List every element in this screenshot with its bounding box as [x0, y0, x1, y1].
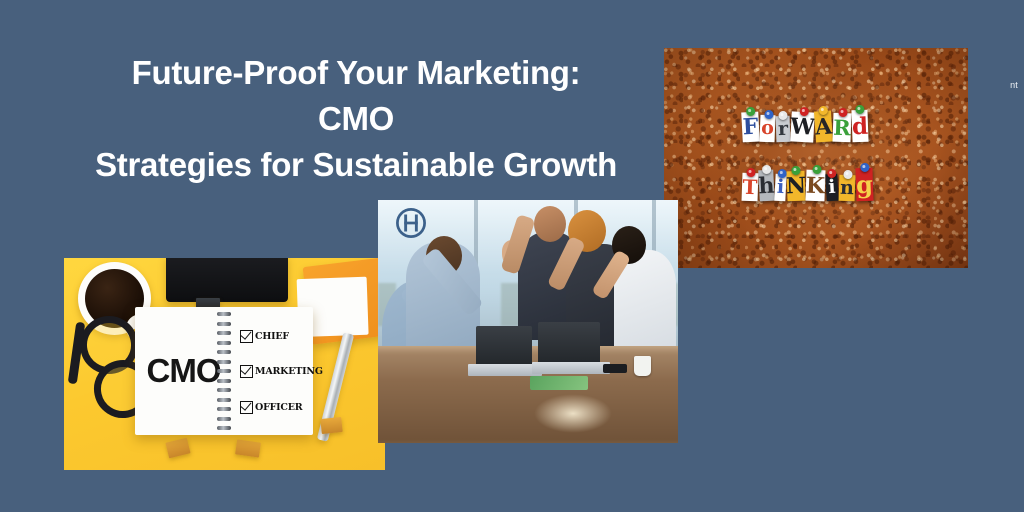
push-pin-icon [764, 110, 773, 119]
ransom-letter: N [786, 171, 805, 202]
push-pin-icon [761, 165, 770, 174]
ransom-letter-glyph: K [806, 174, 826, 197]
checklist-row: OFFICER [240, 401, 309, 414]
ransom-letter-glyph: h [758, 174, 775, 197]
laptop-screen [538, 322, 600, 364]
push-pin-icon [799, 107, 808, 116]
ransom-letter: W [790, 111, 815, 142]
checklist-label: CHIEF [255, 331, 289, 342]
spiral-coil [217, 350, 231, 354]
cmo-notebook-desk-image: CMO CHIEFMARKETINGOFFICER [64, 258, 385, 470]
ransom-letter-glyph: i [776, 178, 784, 197]
spiral-coil [217, 369, 231, 373]
ransom-letter: R [832, 113, 851, 143]
ransom-letter: T [742, 173, 759, 202]
notebook-left-page: CMO [135, 307, 224, 435]
edge-caption-text: nt [1010, 80, 1018, 90]
push-pin-icon [818, 106, 828, 116]
person-head [534, 206, 566, 242]
spiral-coil [217, 398, 231, 402]
binder-clip [320, 417, 342, 434]
spiral-coil [217, 331, 231, 335]
spiral-coil [217, 426, 231, 430]
headline-line-1: Future-Proof Your Marketing: [0, 50, 712, 96]
ransom-letter: i [825, 174, 838, 202]
laptop-keyboard [468, 364, 542, 376]
ransom-letter: d [851, 110, 868, 143]
team-high-five-image [378, 200, 678, 443]
h-monogram-logo-icon [394, 206, 428, 240]
checkbox-checked-icon [240, 401, 253, 414]
spiral-coil [217, 407, 231, 411]
spiral-coil [217, 360, 231, 364]
notebook-cmo-text: CMO [147, 352, 221, 390]
ransom-letter: K [805, 170, 825, 202]
ransom-letter-glyph: R [833, 117, 851, 139]
spiral-coil [217, 417, 231, 421]
ransom-word-thinking: ThiNKing [742, 168, 873, 201]
tablet-device [166, 258, 288, 302]
notebook-spiral-binding [217, 312, 231, 430]
checkbox-checked-icon [240, 365, 253, 378]
ransom-letter: r [776, 116, 791, 142]
ransom-letter-glyph: W [790, 115, 816, 138]
smartphone [603, 364, 627, 373]
orange-folder [303, 258, 385, 345]
document-papers [530, 376, 588, 390]
ransom-letter: A [814, 110, 833, 142]
spiral-coil [217, 379, 231, 383]
ransom-letter: h [758, 170, 775, 202]
checklist-label: MARKETING [255, 366, 323, 377]
headline-line-3: Strategies for Sustainable Growth [0, 142, 712, 188]
notebook: CMO CHIEFMARKETINGOFFICER [135, 307, 313, 435]
ransom-letter-glyph: n [840, 178, 854, 197]
ransom-letter-glyph: o [761, 119, 774, 138]
ransom-letter-glyph: g [856, 172, 874, 197]
ransom-letter: n [839, 175, 856, 202]
checklist-row: MARKETING [240, 365, 309, 378]
headline-block: Future-Proof Your Marketing: CMO Strateg… [0, 50, 712, 188]
coffee-mug [634, 356, 651, 376]
ransom-letter: g [855, 168, 873, 202]
laptop-keyboard [532, 362, 610, 374]
ransom-letter: o [760, 115, 776, 143]
spiral-coil [217, 322, 231, 326]
marketing-banner: Future-Proof Your Marketing: CMO Strateg… [0, 0, 1024, 512]
ransom-letter-glyph: F [742, 116, 759, 139]
ransom-letter-glyph: N [786, 175, 807, 198]
ransom-letter-glyph: A [814, 115, 833, 138]
spiral-coil [217, 341, 231, 345]
laptop-screen [476, 326, 532, 366]
ransom-letter-glyph: T [742, 177, 758, 198]
ransom-word-forward: ForWARd [742, 110, 868, 142]
binder-clip [235, 439, 261, 457]
checklist-row: CHIEF [240, 330, 309, 343]
ransom-letter-glyph: r [778, 119, 789, 138]
table-light-glare [534, 394, 612, 433]
ransom-letter: F [741, 112, 760, 143]
ransom-letter-glyph: d [852, 114, 869, 138]
ransom-letter-glyph: i [828, 178, 836, 197]
spiral-coil [217, 388, 231, 392]
spiral-coil [217, 312, 231, 316]
push-pin-icon [745, 107, 754, 116]
checklist-label: OFFICER [255, 402, 303, 413]
push-pin-icon [860, 163, 869, 172]
notebook-checklist: CHIEFMARKETINGOFFICER [224, 307, 313, 435]
headline-line-2: CMO [0, 96, 712, 142]
checkbox-checked-icon [240, 330, 253, 343]
push-pin-icon [812, 165, 821, 174]
